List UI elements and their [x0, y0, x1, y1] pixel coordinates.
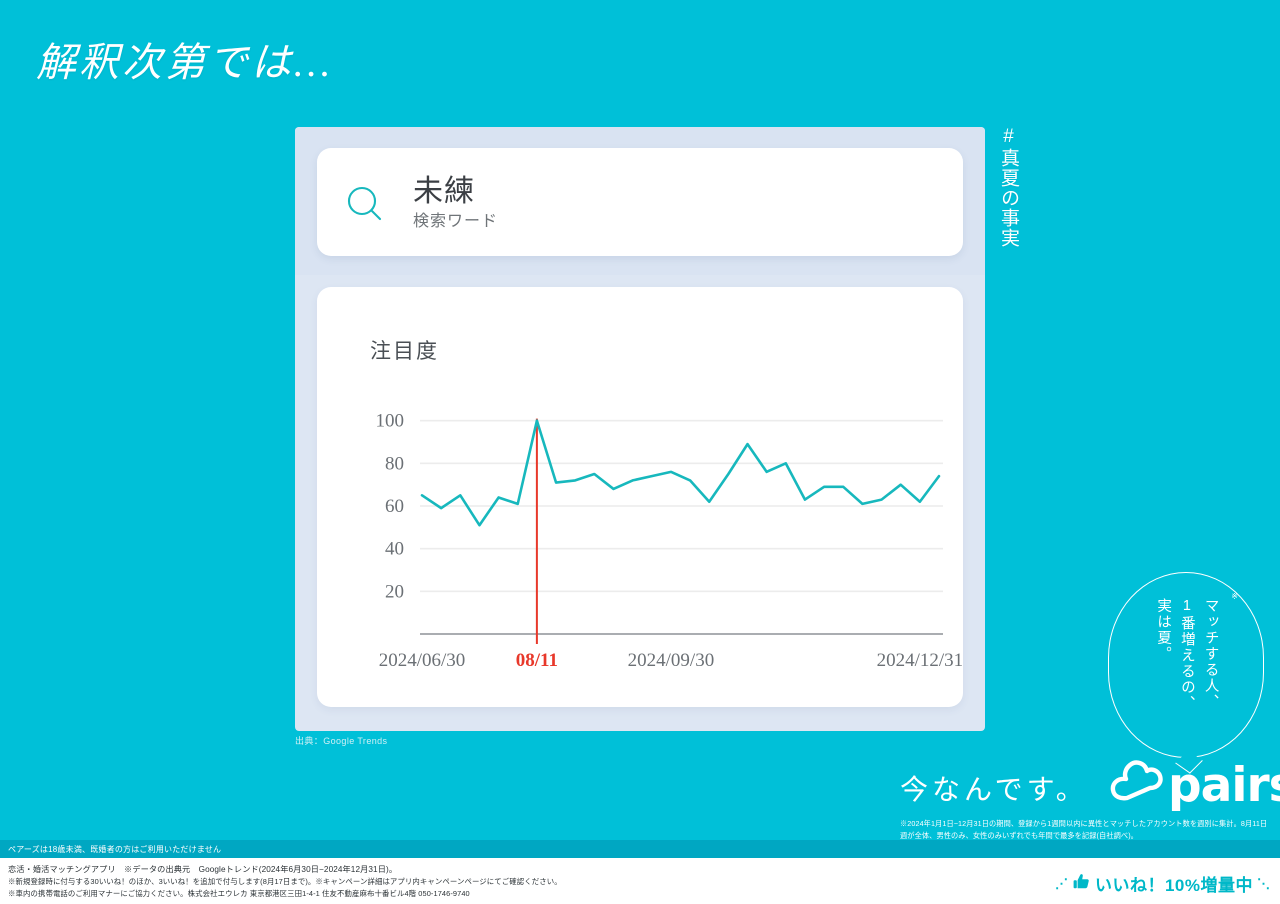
chart-title: 注目度: [370, 335, 439, 365]
y-axis-tick-label: 20: [385, 581, 404, 602]
bubble-line-3: 実は夏。: [1151, 598, 1173, 662]
y-axis-tick-label: 60: [385, 496, 404, 517]
y-axis-tick-label: 40: [385, 539, 404, 560]
sparkle-left-icon: ⋰: [1055, 876, 1068, 892]
pairs-logo: pairs: [1104, 758, 1280, 813]
chart-card: 注目度 204060801002024/06/3008/112024/09/30…: [317, 287, 963, 707]
trend-line-chart: 204060801002024/06/3008/112024/09/302024…: [317, 382, 963, 682]
trend-line-series: [422, 421, 939, 526]
cloud-heart-icon: [1104, 758, 1166, 813]
x-axis-tick-label: 2024/12/31: [877, 650, 963, 671]
logo-wordmark: pairs: [1168, 762, 1280, 809]
bubble-line-2: 1番増えるの、: [1175, 598, 1197, 712]
footer-disclaimer: 恋活・婚活マッチングアプリ ※データの出典元 Googleトレンド(2024年6…: [0, 858, 1280, 904]
search-icon: [317, 178, 413, 226]
thumbs-up-icon: [1072, 872, 1091, 896]
hashtag-label: #真夏の事実: [995, 126, 1021, 248]
search-label: 検索ワード: [413, 214, 498, 230]
x-axis-tick-label: 2024/06/30: [379, 650, 466, 671]
content-panel: 未練 検索ワード 注目度 204060801002024/06/3008/112…: [295, 127, 985, 731]
age-restriction-text: ペアーズは18歳未満、既婚者の方はご利用いただけません: [0, 844, 221, 855]
bubble-line-1: マッチする人、: [1199, 598, 1221, 710]
bubble-text-group: マッチする人、 1番増えるの、 実は夏。: [1108, 572, 1264, 758]
promo-badge: ⋰ いいね！10%増量中 ⋱: [1055, 871, 1270, 896]
brand-tagline: 今なんです。: [900, 768, 1088, 808]
bubble-asterisk: ※: [1231, 592, 1238, 601]
x-axis-highlight-label: 08/11: [516, 650, 558, 671]
y-axis-tick-label: 80: [385, 453, 404, 474]
sparkle-right-icon: ⋱: [1257, 876, 1270, 892]
chart-plot-area: 204060801002024/06/3008/112024/09/302024…: [317, 382, 963, 682]
x-axis-tick-label: 2024/09/30: [628, 650, 715, 671]
search-term: 未練: [413, 177, 498, 207]
age-restriction-bar: ペアーズは18歳未満、既婚者の方はご利用いただけません: [0, 840, 1280, 858]
search-text-group: 未練 検索ワード: [413, 175, 498, 230]
promo-text: いいね！10%増量中: [1095, 871, 1253, 896]
y-axis-tick-label: 100: [376, 411, 405, 432]
chart-source-note: 出典：Google Trends: [295, 734, 387, 747]
speech-bubble: マッチする人、 1番増えるの、 実は夏。 ※: [1108, 572, 1264, 758]
search-card[interactable]: 未練 検索ワード: [317, 148, 963, 256]
page-title: 解釈次第では…: [36, 30, 333, 88]
brand-legal-note: ※2024年1月1日−12月31日の期間、登録から1週間以内に異性とマッチしたア…: [900, 818, 1272, 842]
